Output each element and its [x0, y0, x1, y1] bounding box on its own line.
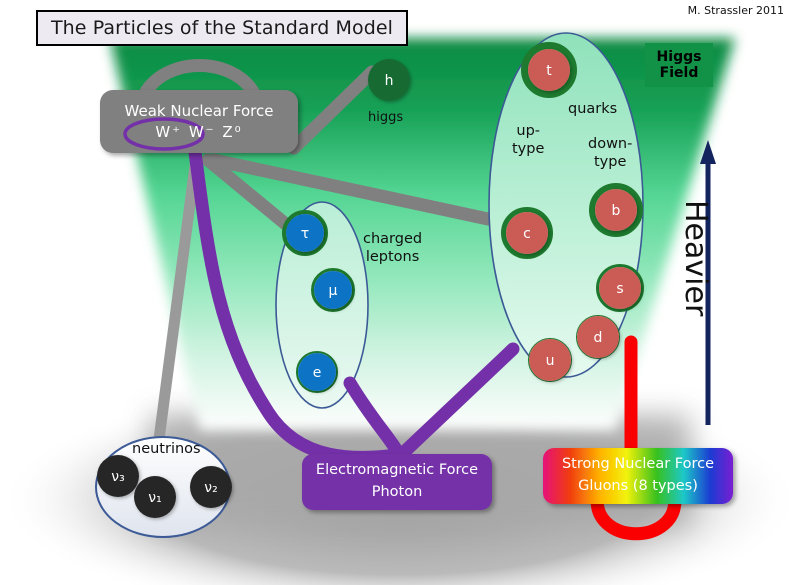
particle-[interactable]: μ: [313, 270, 354, 311]
quarks-down-type-line2: type: [594, 154, 626, 170]
em-force-carrier: Photon: [372, 482, 423, 504]
quarks-down-type-label: down- type: [588, 135, 632, 171]
particle-b[interactable]: b: [592, 186, 640, 234]
particle-symbol: e: [313, 365, 322, 381]
strong-force-box[interactable]: Strong Nuclear Force Gluons (8 types): [543, 448, 733, 504]
particle-symbol: s: [616, 281, 623, 297]
particle-s[interactable]: s: [598, 266, 643, 311]
particle-h[interactable]: h: [368, 59, 410, 101]
quarks-up-type-line1: up-: [516, 123, 540, 139]
page-title: The Particles of the Standard Model: [36, 10, 408, 46]
strong-force-name: Strong Nuclear Force: [562, 454, 714, 476]
quarks-down-type-line1: down-: [588, 136, 632, 152]
particle-symbol: ν₂: [204, 480, 217, 496]
particle-[interactable]: τ: [284, 212, 326, 254]
weak-force-name: Weak Nuclear Force: [125, 102, 274, 121]
particle-symbol: u: [546, 353, 555, 369]
particle-symbol: ν₃: [111, 469, 124, 485]
higgs-field-label: Higgs Field: [645, 43, 713, 87]
weak-force-box[interactable]: Weak Nuclear Force W⁺ W⁻ Z⁰: [100, 90, 298, 153]
charged-leptons-line2: leptons: [366, 249, 419, 265]
particle-u[interactable]: u: [529, 339, 572, 382]
heavier-axis-label: Heavier: [678, 200, 713, 316]
quarks-up-type-line2: type: [512, 141, 544, 157]
particle-symbol: d: [594, 330, 603, 346]
particle-symbol: c: [523, 226, 531, 242]
particle-symbol: t: [546, 63, 552, 79]
particle-c[interactable]: c: [504, 210, 551, 257]
particle-symbol: b: [612, 203, 621, 219]
particle-symbol: μ: [329, 283, 338, 299]
quarks-group-label: quarks: [568, 100, 617, 118]
charged-leptons-line1: charged: [363, 231, 422, 247]
particle-[interactable]: ν₁: [134, 476, 176, 518]
weak-force-carriers: W⁺ W⁻ Z⁰: [155, 123, 242, 142]
higgs-label: higgs: [368, 110, 403, 125]
em-force-box[interactable]: Electromagnetic Force Photon: [302, 454, 492, 510]
particle-[interactable]: ν₂: [190, 466, 232, 508]
particle-[interactable]: ν₃: [97, 455, 139, 497]
diagram-canvas: tcubsdτμeν₃ν₁ν₂h The Particles of the St…: [0, 0, 800, 585]
particle-symbol: τ: [301, 226, 309, 242]
quarks-up-type-label: up- type: [512, 122, 544, 158]
charged-leptons-label: charged leptons: [363, 230, 422, 266]
particle-d[interactable]: d: [577, 316, 620, 359]
higgs-field-label-line1: Higgs: [657, 49, 702, 65]
em-force-name: Electromagnetic Force: [316, 460, 478, 482]
particle-symbol: h: [385, 73, 394, 89]
neutrinos-label: neutrinos: [132, 440, 201, 458]
particle-e[interactable]: e: [297, 352, 337, 392]
credit-line: M. Strassler 2011: [688, 4, 784, 17]
particle-symbol: ν₁: [148, 490, 161, 506]
higgs-field-label-line2: Field: [660, 65, 699, 81]
particle-t[interactable]: t: [525, 46, 574, 95]
strong-force-carrier: Gluons (8 types): [578, 476, 698, 498]
